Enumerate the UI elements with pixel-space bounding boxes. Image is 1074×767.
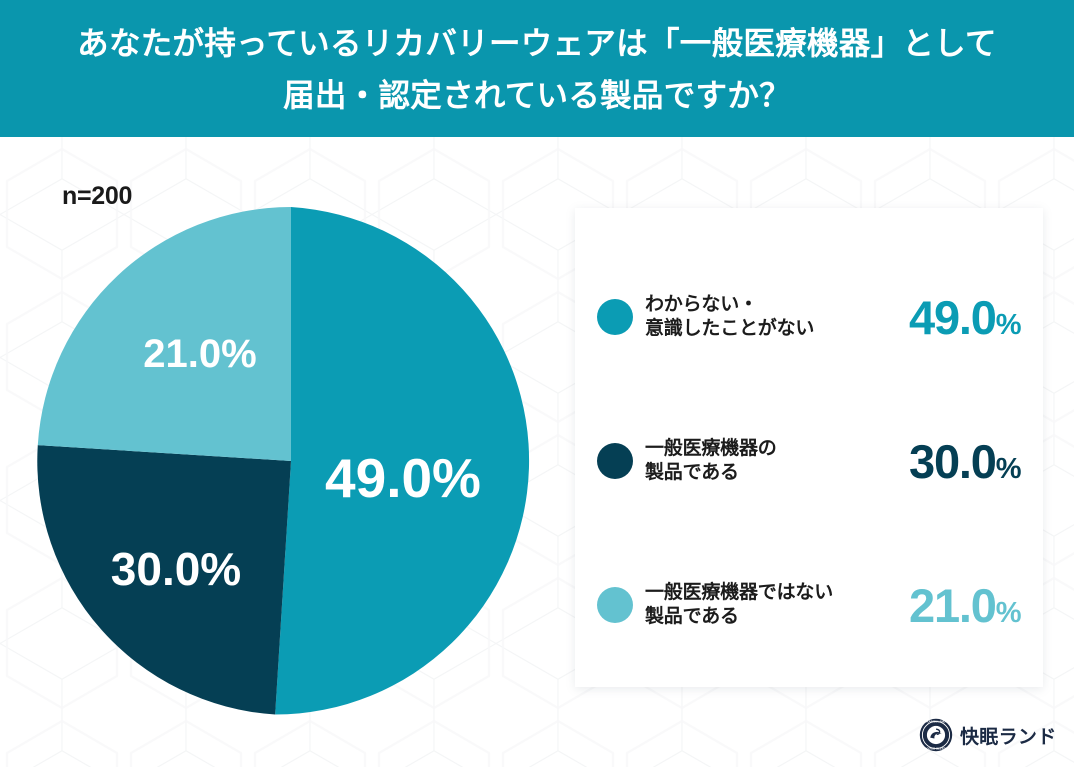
legend-label-teal: わからない・ 意識したことがない (645, 293, 869, 341)
legend-item-light-blue[interactable]: 一般医療機器ではない 製品である 21.0% (597, 568, 1021, 642)
sleep-badge-icon: KAIMIN LAND GOOD SLEEP (919, 718, 953, 752)
svg-text:KAIMIN LAND: KAIMIN LAND (926, 720, 945, 724)
pie-chart: 49.0% 30.0% 21.0% (37, 207, 545, 715)
pie-label-light-blue: 21.0% (143, 332, 256, 376)
brand-logo[interactable]: KAIMIN LAND GOOD SLEEP 快眠ランド (919, 718, 1057, 752)
infographic-page: あなたが持っているリカバリーウェアは「一般医療機器」として 届出・認定されている… (0, 0, 1074, 767)
legend-item-navy[interactable]: 一般医療機器の 製品である 30.0% (597, 424, 1021, 498)
legend-list: わからない・ 意識したことがない 49.0% 一般医療機器の 製品である 30.… (597, 280, 1021, 642)
legend-label-light-blue-line-1: 一般医療機器ではない (645, 582, 833, 603)
legend-value-light-blue-unit: % (996, 597, 1021, 629)
header-title-line-1: あなたが持っているリカバリーウェアは「一般医療機器」として (77, 28, 997, 60)
legend-item-teal[interactable]: わからない・ 意識したことがない 49.0% (597, 280, 1021, 354)
legend-label-navy: 一般医療機器の 製品である (645, 437, 869, 485)
legend-value-light-blue-number: 21.0 (909, 579, 996, 632)
pie-label-teal: 49.0% (325, 447, 481, 509)
legend-label-light-blue: 一般医療機器ではない 製品である (645, 581, 869, 629)
svg-text:GOOD SLEEP: GOOD SLEEP (926, 746, 945, 750)
legend-value-teal: 49.0% (869, 290, 1021, 345)
legend-label-teal-line-2: 意識したことがない (645, 318, 814, 339)
legend-label-teal-line-1: わからない・ (645, 294, 758, 315)
legend-color-dot-teal (597, 299, 633, 335)
legend-color-dot-navy (597, 443, 633, 479)
legend-label-navy-line-1: 一般医療機器の (645, 438, 777, 459)
legend-value-navy-number: 30.0 (909, 435, 996, 488)
header-banner: あなたが持っているリカバリーウェアは「一般医療機器」として 届出・認定されている… (0, 0, 1074, 137)
legend-value-navy: 30.0% (869, 434, 1021, 489)
legend-value-light-blue: 21.0% (869, 578, 1021, 633)
legend-value-teal-number: 49.0 (909, 291, 996, 344)
legend-value-teal-unit: % (996, 309, 1021, 341)
legend-label-navy-line-2: 製品である (645, 462, 739, 483)
legend-color-dot-light-blue (597, 587, 633, 623)
legend-label-light-blue-line-2: 製品である (645, 606, 739, 627)
legend-value-navy-unit: % (996, 453, 1021, 485)
sample-size-label: n=200 (62, 182, 132, 211)
header-title-line-2: 届出・認定されている製品ですか？ (283, 80, 791, 112)
pie-label-navy: 30.0% (111, 543, 241, 595)
legend-panel: わからない・ 意識したことがない 49.0% 一般医療機器の 製品である 30.… (575, 208, 1043, 687)
brand-name-label: 快眠ランド (960, 722, 1057, 749)
